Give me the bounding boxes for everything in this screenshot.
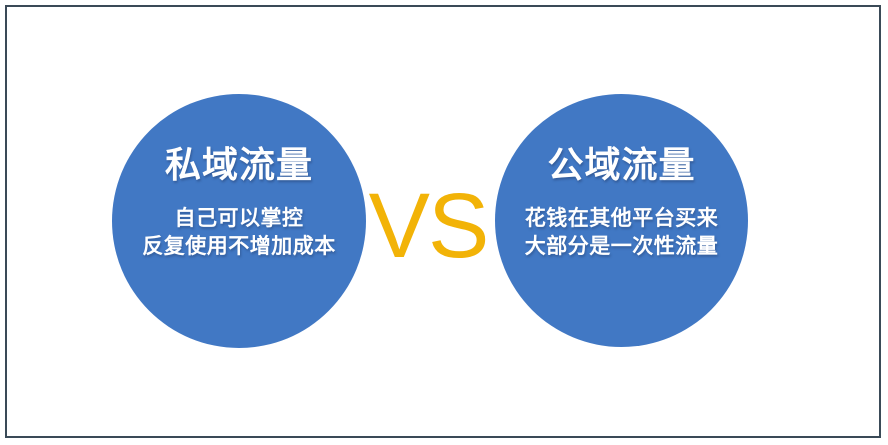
left-subtitle-line-1: 自己可以掌控: [142, 205, 336, 233]
comparison-circle-left[interactable]: 私域流量 自己可以掌控 反复使用不增加成本: [112, 94, 366, 348]
comparison-diagram: 私域流量 自己可以掌控 反复使用不增加成本 VS 公域流量 花钱在其他平台买来 …: [0, 0, 888, 445]
right-subtitle-line-2: 大部分是一次性流量: [525, 233, 719, 261]
left-circle-subtitle: 自己可以掌控 反复使用不增加成本: [142, 205, 336, 260]
right-circle-subtitle: 花钱在其他平台买来 大部分是一次性流量: [525, 205, 719, 260]
right-circle-title: 公域流量: [547, 147, 695, 185]
vs-separator-label: VS: [368, 176, 488, 276]
slide-canvas: 私域流量 自己可以掌控 反复使用不增加成本 VS 公域流量 花钱在其他平台买来 …: [0, 0, 888, 445]
comparison-circle-right[interactable]: 公域流量 花钱在其他平台买来 大部分是一次性流量: [495, 94, 748, 347]
right-subtitle-line-1: 花钱在其他平台买来: [525, 205, 719, 233]
left-subtitle-line-2: 反复使用不增加成本: [142, 233, 336, 261]
left-circle-title: 私域流量: [165, 147, 313, 185]
